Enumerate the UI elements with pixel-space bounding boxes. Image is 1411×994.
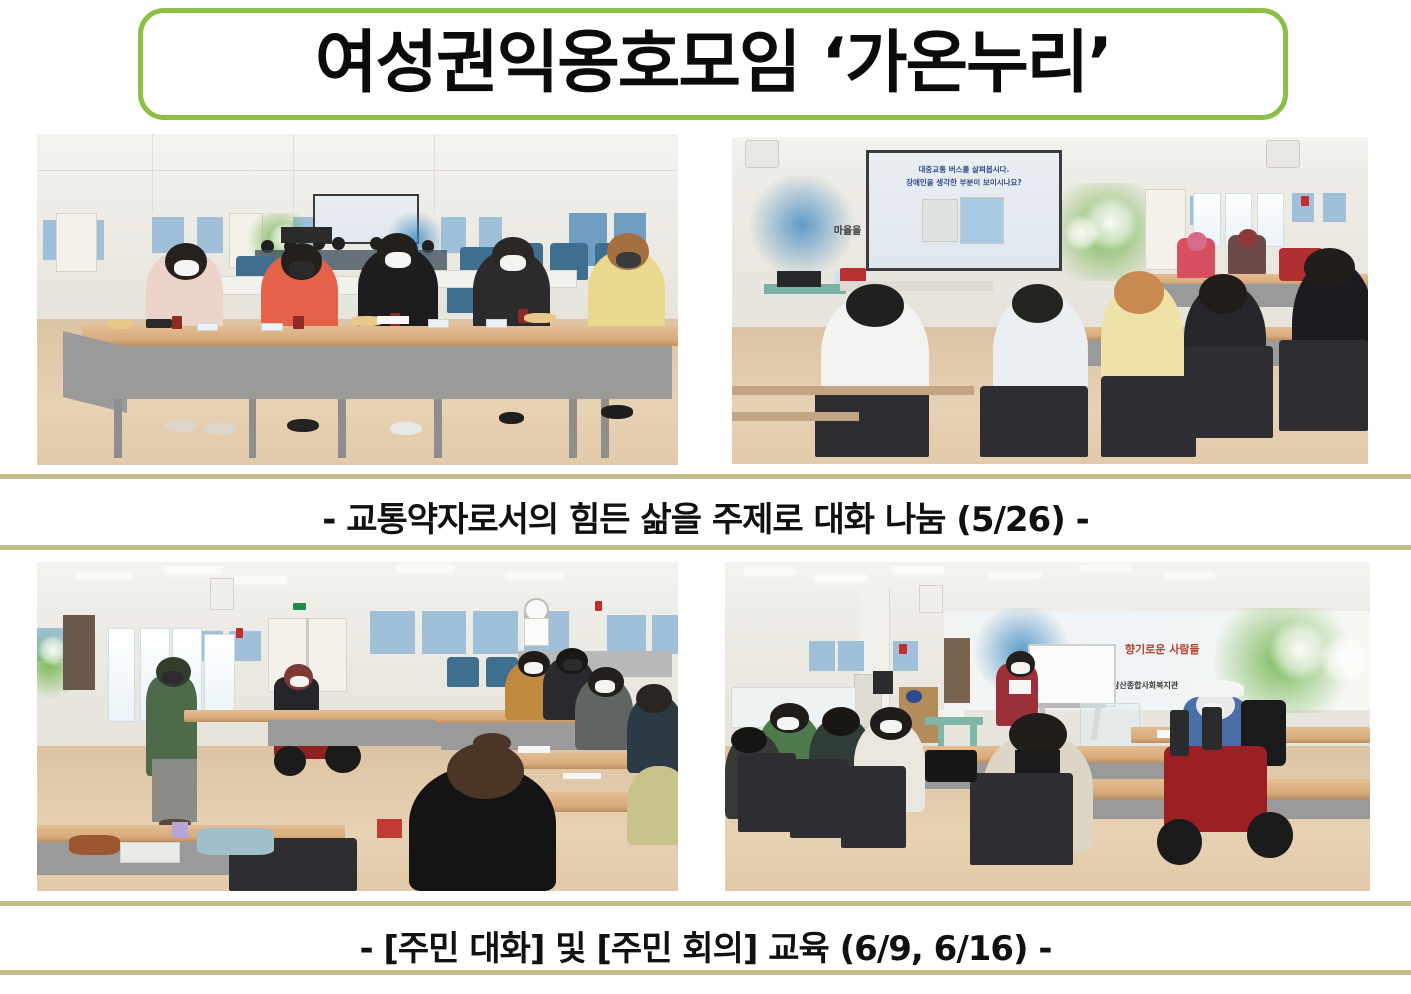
- photo-3-scene: [37, 562, 678, 891]
- photo-projector-presentation: 마을을 대중교통 버스를 살펴봅시다. 장애인을 생각한 부분이 보이시나요?: [732, 137, 1368, 464]
- photo-participants-at-tables: 마스크를 쓴 참가자들이 긴 책상에 앉아 카메라를 바라보는 모습: [37, 134, 678, 465]
- page-title: 여성권익옹호모임 ‘가온누리’: [315, 30, 1111, 98]
- title-banner: 여성권익옹호모임 ‘가온누리’: [138, 8, 1288, 120]
- divider-top-caption-2: [0, 901, 1411, 906]
- divider-top-caption-1: [0, 474, 1411, 479]
- photo-4-wall-text-dark: 삼산종합사회복지관: [1112, 680, 1178, 691]
- caption-section-1: - 교통약자로서의 힘든 삶을 주제로 대화 나눔 (5/26) -: [0, 492, 1411, 541]
- photo-whiteboard-meeting: 향기로운 사람들 삼산종합사회복지관: [725, 562, 1370, 891]
- photo-facilitator-standing: 초록색 카디건을 입은 진행자가 서서 참가자들에게 설명하는 모습: [37, 562, 678, 891]
- divider-bottom-caption-2: [0, 970, 1411, 975]
- photo-1-scene: [37, 134, 678, 465]
- photo-4-scene: 향기로운 사람들 삼산종합사회복지관: [725, 562, 1370, 891]
- caption-section-2: - [주민 대화] 및 [주민 회의] 교육 (6/9, 6/16) -: [0, 921, 1411, 970]
- slide-line-2: 장애인을 생각한 부분이 보이시나요?: [869, 178, 1060, 187]
- photo-4-wall-text-red: 향기로운 사람들: [1125, 641, 1200, 657]
- photo-2-wall-text: 마을을: [834, 222, 862, 237]
- photo-2-scene: 마을을 대중교통 버스를 살펴봅시다. 장애인을 생각한 부분이 보이시나요?: [732, 137, 1368, 464]
- slide-line-1: 대중교통 버스를 살펴봅시다.: [869, 165, 1060, 174]
- divider-bottom-caption-1: [0, 545, 1411, 550]
